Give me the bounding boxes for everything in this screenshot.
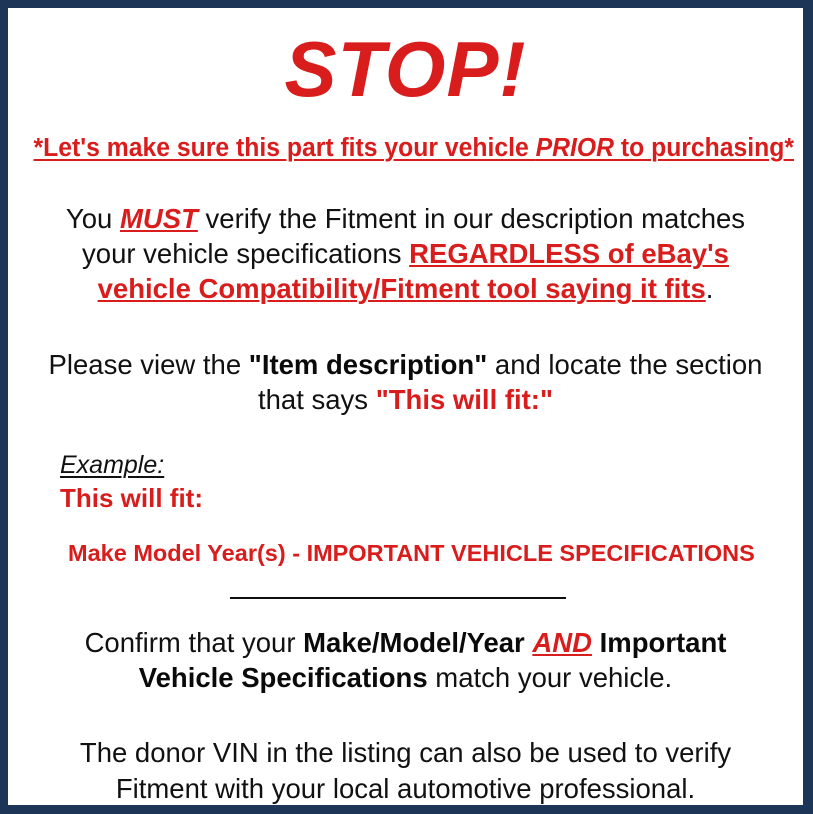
emphasis-and: AND <box>532 627 592 658</box>
subtitle-banner: *Let's make sure this part fits your veh… <box>34 134 778 163</box>
example-block: Example: This will fit: Make Model Year(… <box>60 451 803 567</box>
subtitle-emphasis-prior: PRIOR <box>536 134 614 162</box>
divider-line <box>230 597 566 599</box>
itemdesc-text-1: Please view the <box>49 349 249 380</box>
subtitle-suffix: to purchasing* <box>614 134 794 162</box>
divider <box>8 597 803 599</box>
confirm-space-2 <box>592 627 600 658</box>
page-title: STOP! <box>8 30 803 108</box>
fitment-notice-card: STOP! *Let's make sure this part fits yo… <box>0 0 813 814</box>
example-spec-line: Make Model Year(s) - IMPORTANT VEHICLE S… <box>68 540 803 567</box>
example-label-row: Example: <box>60 451 803 480</box>
emphasis-make-model-year: Make/Model/Year <box>303 627 525 658</box>
emphasis-this-will-fit: "This will fit:" <box>376 384 553 415</box>
paragraph-confirm: Confirm that your Make/Model/Year AND Im… <box>42 625 769 695</box>
confirm-text-1: Confirm that your <box>85 627 304 658</box>
emphasis-must: MUST <box>120 203 198 234</box>
paragraph-must-verify: You MUST verify the Fitment in our descr… <box>42 201 769 307</box>
example-label: Example: <box>60 451 164 480</box>
paragraph-item-description: Please view the "Item description" and l… <box>42 347 769 417</box>
example-this-will-fit: This will fit: <box>60 483 803 514</box>
must-text-1: You <box>66 203 120 234</box>
notice-content: STOP! *Let's make sure this part fits yo… <box>8 30 803 814</box>
emphasis-item-description: "Item description" <box>249 349 487 380</box>
must-text-3: . <box>706 273 714 304</box>
subtitle-prefix: *Let's make sure this part fits your veh… <box>34 134 536 162</box>
paragraph-donor-vin: The donor VIN in the listing can also be… <box>42 735 769 805</box>
confirm-text-2: match your vehicle. <box>428 662 673 693</box>
